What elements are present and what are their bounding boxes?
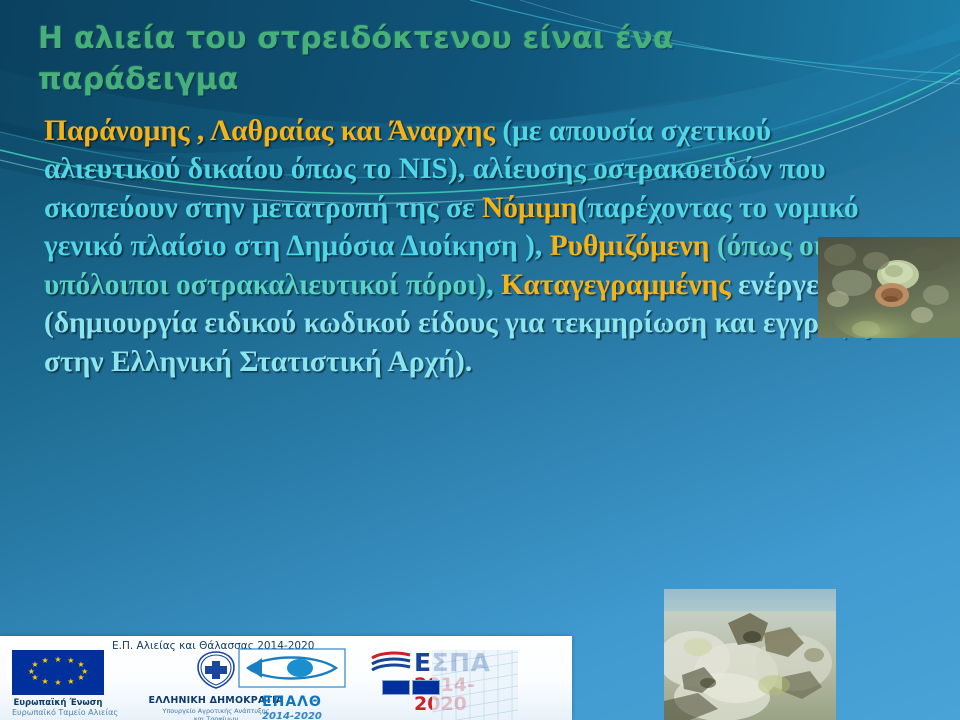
espa-eu-chip-icon: [382, 680, 410, 695]
espa-logo: ΕΣΠΑ 2014-2020: [368, 650, 518, 714]
eu-caption-union: Ευρωπαϊκή Ένωση: [12, 698, 104, 708]
espa-wave-mark-icon: [370, 650, 412, 676]
espa-greece-chip-icon: [412, 680, 440, 695]
eu-flag-icon: ★ ★ ★ ★ ★ ★ ★ ★ ★ ★ ★ ★: [12, 650, 104, 695]
body-segment-recorded-gold: Καταγεγραμμένης: [501, 269, 738, 301]
photo-seabed-colony: [664, 589, 836, 720]
body-segment-7: ,: [486, 269, 501, 301]
body-segment-regulated-gold: Ρυθμιζόμενη: [550, 230, 717, 262]
body-segment-illegal-gold: Παράνομης , Λαθραίας και Άναρχης: [44, 115, 502, 147]
eu-caption-fund: Ευρωπαϊκό Ταμείο Αλιείας: [12, 708, 104, 717]
epalth-fish-eye-icon: [238, 648, 346, 688]
photo-seabed-graphic: [664, 589, 836, 720]
photo-shellfish-graphic: [818, 237, 960, 338]
slide-body-text: Παράνομης , Λαθραίας και Άναρχης (με απο…: [44, 112, 874, 381]
epalth-logo: ΕΠΑΛΘ 2014-2020: [232, 648, 352, 720]
epalth-label: ΕΠΑΛΘ: [232, 694, 352, 710]
presentation-slide: Η αλιεία του στρειδόκτενου είναι ένα παρ…: [0, 0, 960, 720]
funding-logo-banner: Με τη συγχρηματοδότηση της Ελλάδας και τ…: [0, 636, 572, 720]
photo-shellfish-on-seabed: [818, 237, 960, 338]
epalth-years: 2014-2020: [232, 711, 352, 720]
slide-title: Η αλιεία του στρειδόκτενου είναι ένα παρ…: [38, 18, 758, 101]
espa-decorative-grid-icon: [432, 650, 518, 720]
eu-logo: ★ ★ ★ ★ ★ ★ ★ ★ ★ ★ ★ ★ Ευρωπαϊκή Ένωση …: [12, 650, 104, 717]
body-segment-legal-gold: Νόμιμη: [482, 192, 577, 224]
